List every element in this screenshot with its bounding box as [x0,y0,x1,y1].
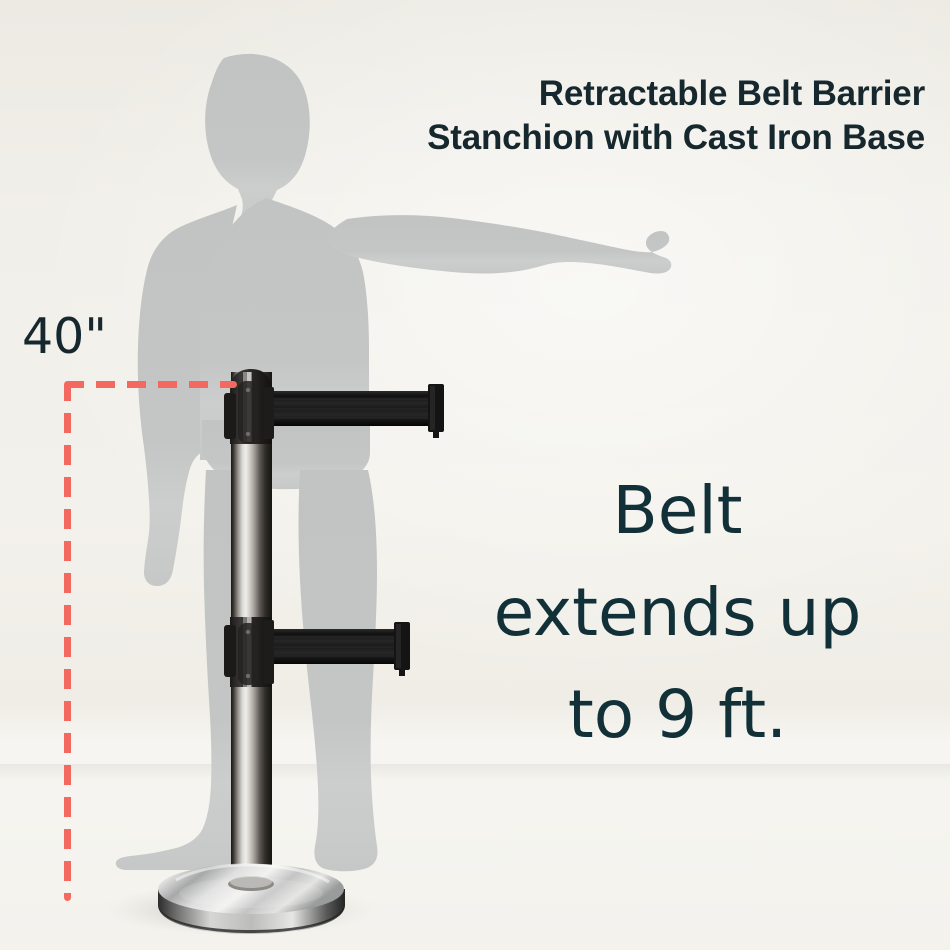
horizontal-dimension-line [65,381,237,388]
product-title: Retractable Belt Barrier Stanchion with … [285,72,925,160]
lower-belt-cassette [224,617,274,687]
height-dimension-label: 40" [22,311,107,363]
product-marketing-image: Retractable Belt Barrier Stanchion with … [0,0,950,950]
upper-belt-end-clip [428,384,444,438]
cast-iron-chrome-base [158,864,345,934]
belt-extension-callout: Belt extends up to 9 ft. [430,460,925,766]
lower-belt-end-clip [394,622,410,676]
vertical-dimension-line [64,381,71,901]
